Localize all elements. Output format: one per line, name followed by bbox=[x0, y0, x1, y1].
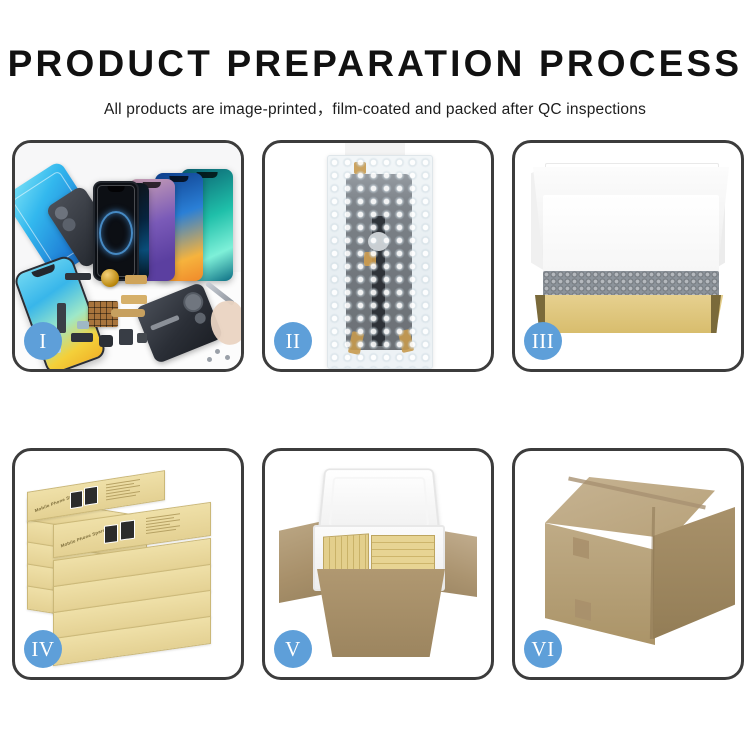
header: PRODUCT PREPARATION PROCESS All products… bbox=[0, 0, 750, 119]
step-badge-3: III bbox=[524, 322, 562, 360]
phone-screen-glass-icon bbox=[93, 181, 139, 281]
step-badge-5: V bbox=[274, 630, 312, 668]
grey-bubble-foam-icon bbox=[543, 271, 719, 297]
housing-bar-icon bbox=[150, 315, 180, 331]
camera-lens-icon bbox=[183, 292, 204, 313]
step-badge-4: IV bbox=[24, 630, 62, 668]
step-panel-4[interactable]: Mobile Phone Spare Parts Mobile Phone Sp… bbox=[12, 448, 244, 680]
small-part-icon bbox=[71, 333, 93, 342]
screw-icon-2 bbox=[225, 355, 230, 360]
sim-tray-icon bbox=[77, 321, 89, 329]
step-panel-5[interactable]: V bbox=[262, 448, 494, 680]
step-panel-3[interactable]: III bbox=[512, 140, 744, 372]
box-spec-lines-2 bbox=[146, 513, 180, 536]
box-thumbnail-2 bbox=[84, 486, 98, 506]
notch-icon bbox=[31, 264, 56, 279]
tray-side-right-icon bbox=[711, 295, 721, 333]
step-badge-6: VI bbox=[524, 630, 562, 668]
speaker-module-icon bbox=[101, 269, 119, 287]
chip-part-icon bbox=[137, 333, 147, 343]
box-thumbnail-1 bbox=[70, 490, 83, 509]
camera-lens-small-icon bbox=[193, 311, 207, 325]
bubble-wrap-bag-icon bbox=[327, 155, 433, 369]
screw-icon-3 bbox=[207, 357, 212, 362]
screen-swirl-icon bbox=[99, 211, 133, 255]
carton-front-face bbox=[545, 523, 655, 645]
process-grid: I II bbox=[12, 140, 746, 680]
gold-flex-icon bbox=[125, 275, 147, 284]
process-row-bottom: Mobile Phone Spare Parts Mobile Phone Sp… bbox=[12, 448, 746, 680]
gold-ribbon-icon bbox=[111, 309, 145, 317]
vibrator-part-icon bbox=[119, 329, 133, 345]
box-thumbnail-4 bbox=[120, 520, 135, 541]
screw-icon bbox=[215, 349, 220, 354]
carton-body-icon bbox=[317, 569, 445, 657]
gold-flex-icon-2 bbox=[121, 295, 147, 304]
process-row-top: I II bbox=[12, 140, 746, 372]
carton-tape-mark-2 bbox=[575, 599, 591, 621]
notch-icon bbox=[108, 186, 125, 192]
box-spec-lines bbox=[106, 479, 140, 502]
phone-fan-group bbox=[93, 149, 241, 281]
page-title: PRODUCT PREPARATION PROCESS bbox=[0, 45, 750, 82]
step-badge-1: I bbox=[24, 322, 62, 360]
carton-tape-mark-1 bbox=[573, 537, 589, 559]
box-thumbnail-3 bbox=[104, 524, 118, 544]
page-subtitle: All products are image-printed，film-coat… bbox=[0, 97, 750, 119]
product-preparation-infographic: PRODUCT PREPARATION PROCESS All products… bbox=[0, 0, 750, 750]
flex-cable-icon bbox=[57, 303, 66, 333]
bubble-texture bbox=[328, 156, 432, 368]
step-panel-1[interactable]: I bbox=[12, 140, 244, 372]
yellow-box-tray-icon bbox=[535, 295, 727, 333]
step-badge-2: II bbox=[274, 322, 312, 360]
white-foam-sheet-icon bbox=[543, 195, 719, 273]
button-part-icon bbox=[99, 335, 113, 347]
step-panel-6[interactable]: VI bbox=[512, 448, 744, 680]
connector-strip-icon bbox=[65, 273, 91, 280]
step-panel-2[interactable]: II bbox=[262, 140, 494, 372]
